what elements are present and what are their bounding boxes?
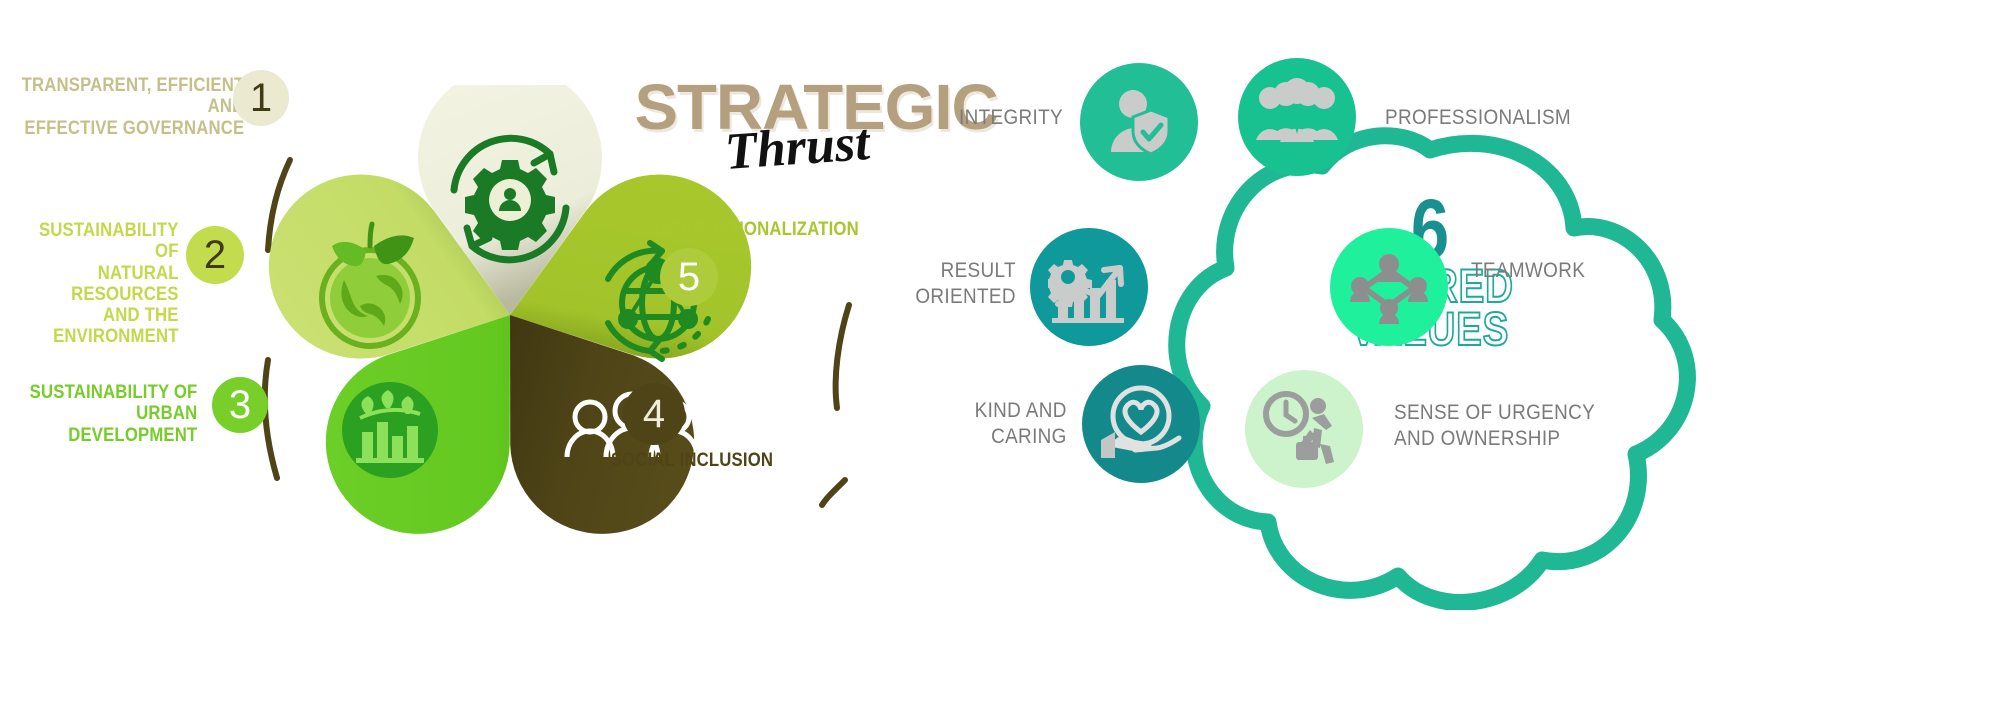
strategic-label-2: SUSTAINABILITY OF NATURAL RESOURCES AND … [11,220,178,348]
network-people-icon [1348,248,1430,326]
value-label-integrity: INTEGRITY [937,105,1063,131]
value-label-teamwork: TEAMWORK [1471,258,1669,284]
heart-in-hand-icon [1099,384,1183,464]
value-label-professionalism: PROFESSIONALISM [1385,105,1619,131]
value-circle-sense-of-urgency[interactable] [1245,370,1363,488]
growth-chart-gear-icon [1048,248,1130,326]
strategic-label-3: SUSTAINABILITY OF URBAN DEVELOPMENT [13,382,198,446]
strategic-badge-4[interactable]: 4 [623,383,685,445]
value-label-sense-of-urgency: SENSE OF URGENCY AND OWNERSHIP [1394,400,1646,451]
value-label-result-oriented: RESULT ORIENTED [906,258,1016,309]
strategic-badge-5[interactable]: 5 [660,248,718,306]
strategic-label-4: SOCIAL INCLUSION [591,450,793,471]
strategic-badge-3[interactable]: 3 [212,377,268,433]
infographic-canvas: STRATEGIC Thrust [0,0,2000,706]
value-circle-teamwork[interactable] [1330,228,1448,346]
strategic-badge-2[interactable]: 2 [186,226,244,284]
value-circle-kind-and-caring[interactable] [1082,365,1200,483]
value-circle-integrity[interactable] [1080,63,1198,181]
value-circle-result-oriented[interactable] [1030,228,1148,346]
strategic-label-5: INTERNATIONALIZATION [654,219,865,240]
shared-values-panel: 6 SHARED VALUES INTEGRITY [900,0,2000,706]
petal-flower [240,85,860,605]
strategic-badge-1[interactable]: 1 [233,70,289,126]
strategic-label-1: TRANSPARENT, EFFICIENT AND EFFECTIVE GOV… [16,75,245,139]
business-team-icon [1254,78,1340,156]
green-city-icon [342,382,438,478]
strategic-thrust-panel: STRATEGIC Thrust [0,0,1000,706]
person-shield-icon [1099,82,1179,162]
clock-runner-icon [1262,390,1346,468]
value-circle-professionalism[interactable] [1238,58,1356,176]
value-label-kind-and-caring: KIND AND CARING [918,398,1067,449]
